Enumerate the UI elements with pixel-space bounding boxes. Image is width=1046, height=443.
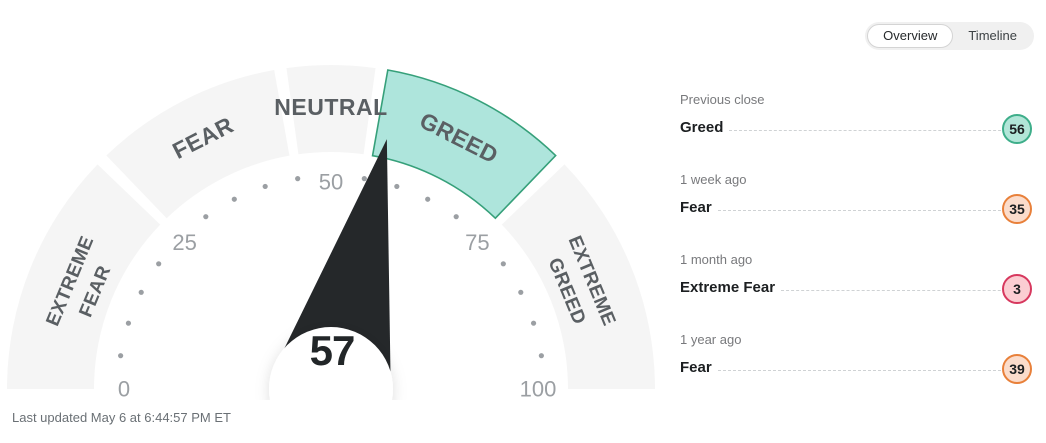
status-badge: 35 (1002, 194, 1032, 224)
dotted-leader (718, 369, 1026, 371)
list-item: 1 year ago Fear 39 (680, 332, 1032, 412)
tick-dot (362, 176, 367, 181)
tick-label: 100 (520, 377, 557, 401)
tab-timeline[interactable]: Timeline (953, 24, 1032, 48)
tick-dot (501, 261, 506, 266)
tick-dot (263, 184, 268, 189)
tick-dot (531, 321, 536, 326)
tick-dot (232, 197, 237, 202)
tick-dot (203, 214, 208, 219)
dotted-leader (729, 129, 1026, 131)
tab-overview[interactable]: Overview (867, 24, 953, 48)
history-rating: Fear (680, 199, 712, 216)
status-badge: 39 (1002, 354, 1032, 384)
history-period: 1 week ago (680, 172, 1032, 187)
tick-dot (394, 184, 399, 189)
fear-greed-gauge: EXTREMEFEARFEARNEUTRALGREEDEXTREMEGREED … (0, 0, 670, 400)
last-updated-text: Last updated May 6 at 6:44:57 PM ET (12, 410, 231, 425)
tick-label: 75 (465, 230, 489, 255)
list-item: 1 week ago Fear 35 (680, 172, 1032, 252)
tick-dot (118, 353, 123, 358)
dotted-leader (718, 209, 1026, 211)
dotted-leader (781, 289, 1026, 291)
view-toggle[interactable]: Overview Timeline (865, 22, 1034, 50)
history-rating: Greed (680, 119, 723, 136)
tick-label: 50 (319, 170, 343, 195)
tick-dot (454, 214, 459, 219)
history-period: Previous close (680, 92, 1032, 107)
tick-dot (295, 176, 300, 181)
history-period: 1 year ago (680, 332, 1032, 347)
tick-dot (425, 197, 430, 202)
tick-dot (518, 290, 523, 295)
segment-label: NEUTRAL (274, 94, 387, 120)
tick-label: 25 (172, 230, 196, 255)
gauge-value: 57 (270, 327, 394, 375)
tick-dot (156, 261, 161, 266)
status-badge: 3 (1002, 274, 1032, 304)
status-badge: 56 (1002, 114, 1032, 144)
tick-label: 0 (118, 377, 130, 401)
list-item: Previous close Greed 56 (680, 92, 1032, 172)
history-rating: Fear (680, 359, 712, 376)
history-list: Previous close Greed 56 1 week ago Fear … (680, 92, 1032, 412)
history-period: 1 month ago (680, 252, 1032, 267)
list-item: 1 month ago Extreme Fear 3 (680, 252, 1032, 332)
tick-dot (539, 353, 544, 358)
tick-dot (139, 290, 144, 295)
tick-dot (126, 321, 131, 326)
history-rating: Extreme Fear (680, 279, 775, 296)
